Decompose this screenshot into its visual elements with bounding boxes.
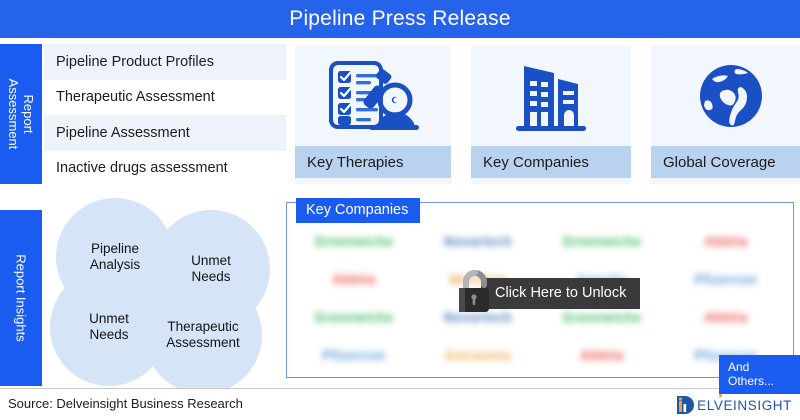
press-release-infographic: Pipeline Press Release Report Assessment… <box>0 0 800 420</box>
venn-label-line1: Pipeline <box>91 241 139 256</box>
company-logo-text: Greenwiche <box>563 233 642 249</box>
company-logo: Abbtia <box>540 336 664 374</box>
venn-label-line2: Needs <box>89 327 128 342</box>
footer: Source: Delveinsight Business Research E… <box>0 389 800 420</box>
report-assessment-tab-line2: Assessment <box>6 44 21 184</box>
company-logo: Greenwiche <box>292 222 416 260</box>
list-item: Therapeutic Assessment <box>44 80 286 116</box>
delveinsight-wordmark: ELVEINSIGHT <box>697 398 792 413</box>
source-text: Source: Delveinsight Business Research <box>8 396 243 411</box>
company-logo-text: Abbtia <box>704 233 747 249</box>
card-global-coverage-label: Global Coverage <box>651 146 800 178</box>
venn-label-line2: Needs <box>191 269 230 284</box>
card-key-therapies-label: Key Therapies <box>295 146 451 178</box>
company-logo-text: Abbtia <box>332 271 375 287</box>
company-logo: Pfizercon <box>292 336 416 374</box>
card-global-coverage: Global Coverage <box>651 46 800 184</box>
company-logo: Abbtia <box>292 260 416 298</box>
card-key-therapies: Key Therapies <box>295 46 451 184</box>
venn-circle-therapeutic-assessment: Therapeutic Assessment <box>144 276 262 394</box>
report-assessment-tab-label: Report Assessment <box>6 44 36 184</box>
company-logo: Astrazena <box>416 336 540 374</box>
company-logo-text: Pfizercon <box>694 271 757 287</box>
company-logo-text: Greenwiche <box>315 233 394 249</box>
unlock-button[interactable]: Click Here to Unlock <box>481 278 640 309</box>
list-item: Pipeline Assessment <box>44 115 286 151</box>
company-logo: Greenwiche <box>540 222 664 260</box>
list-item: Pipeline Product Profiles <box>44 44 286 80</box>
company-logo-text: Pfizercon <box>322 347 385 363</box>
venn-label-line1: Unmet <box>191 253 231 268</box>
globe-icon <box>651 46 800 146</box>
card-key-companies: Key Companies <box>471 46 631 184</box>
key-companies-panel-badge: Key Companies <box>296 198 420 223</box>
report-insights-tab: Report Insights <box>0 210 42 386</box>
company-logo-text: Greenwiche <box>315 309 394 325</box>
company-logo: Abbtia <box>664 222 788 260</box>
company-logo-text: Astrazena <box>445 347 512 363</box>
unlock-overlay[interactable]: Click Here to Unlock <box>455 268 640 319</box>
venn-label-line1: Therapeutic <box>167 319 238 334</box>
report-assessment-tab-line1: Report <box>21 44 36 184</box>
venn-label-line2: Analysis <box>90 257 140 272</box>
report-assessment-list: Pipeline Product Profiles Therapeutic As… <box>44 44 286 186</box>
report-insights-tab-label: Report Insights <box>14 210 29 386</box>
page-title: Pipeline Press Release <box>289 7 511 31</box>
report-assessment-tab: Report Assessment <box>0 44 42 184</box>
microscope-checklist-icon <box>295 46 451 146</box>
company-logo-text: Abbtia <box>580 347 623 363</box>
venn-label-line2: Assessment <box>166 335 240 350</box>
company-logo-text: Novartech <box>444 233 512 249</box>
card-key-companies-label: Key Companies <box>471 146 631 178</box>
company-logo-text: Abbtia <box>704 309 747 325</box>
and-others-badge: And Others... <box>719 355 800 394</box>
company-logo: Greenwiche <box>292 298 416 336</box>
padlock-icon <box>455 268 495 319</box>
page-header: Pipeline Press Release <box>0 0 800 38</box>
venn-label-line1: Unmet <box>89 311 129 326</box>
delveinsight-d-mark <box>674 394 696 416</box>
list-item: Inactive drugs assessment <box>44 151 286 187</box>
company-logo: Novartech <box>416 222 540 260</box>
company-logo: Abbtia <box>664 298 788 336</box>
company-logo: Pfizercon <box>664 260 788 298</box>
report-insights-venn: Pipeline Analysis Unmet Needs Unmet Need… <box>48 196 280 386</box>
delveinsight-logo: ELVEINSIGHT <box>674 394 792 416</box>
buildings-icon <box>471 46 631 146</box>
